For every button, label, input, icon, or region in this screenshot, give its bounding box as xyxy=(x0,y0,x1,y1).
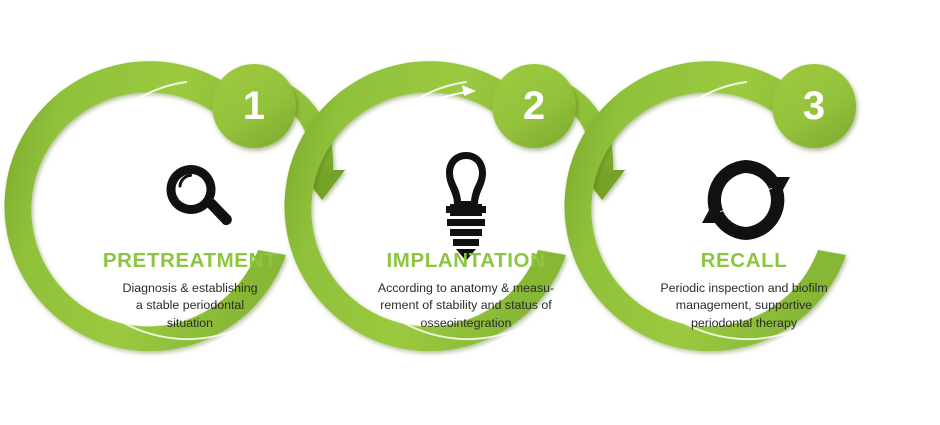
step-3-number-badge xyxy=(772,64,856,148)
step-1-number-badge xyxy=(212,64,296,148)
ring-3-progress-arrow xyxy=(849,142,864,240)
dental-implant-icon xyxy=(446,152,486,261)
step-3-graphic xyxy=(564,61,863,351)
step-2-number-badge xyxy=(492,64,576,148)
recycle-arrows-icon xyxy=(702,160,790,240)
magnifier-icon xyxy=(167,165,232,225)
process-infographic: PRETREATMENT Diagnosis & establishing a … xyxy=(0,0,940,425)
infographic-canvas xyxy=(0,0,940,425)
